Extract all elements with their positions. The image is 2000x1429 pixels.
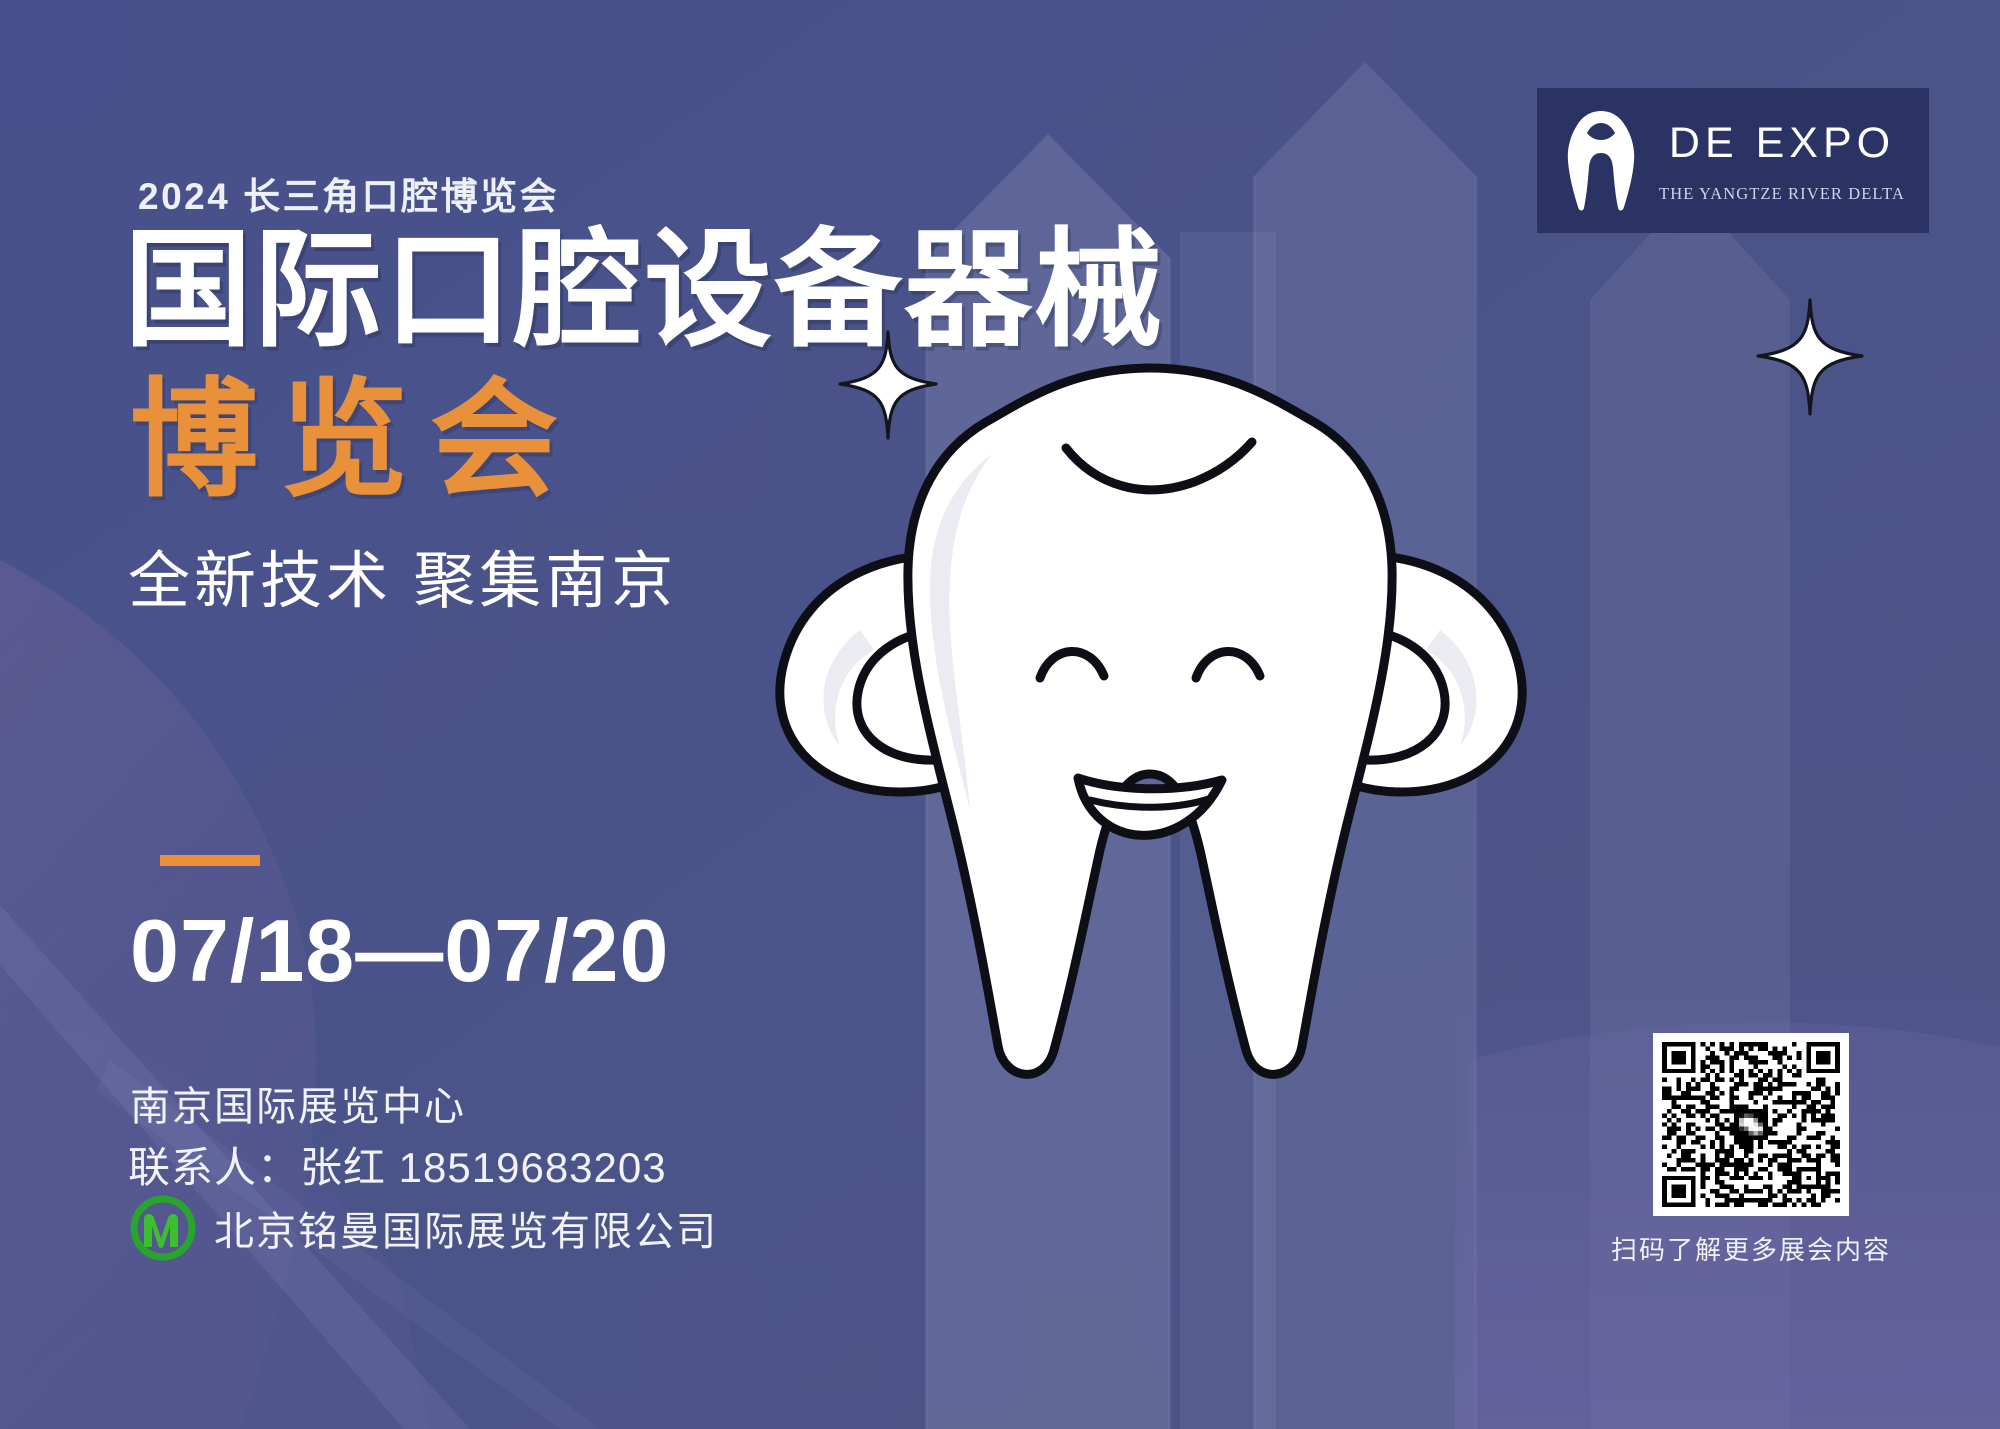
eyebrow-text: 2024 长三角口腔博览会 bbox=[138, 166, 559, 220]
qr-caption: 扫码了解更多展会内容 bbox=[1606, 1230, 1896, 1267]
qr-block: 扫码了解更多展会内容 bbox=[1653, 1033, 1849, 1267]
event-contact: 联系人：张红 18519683203 bbox=[128, 1134, 667, 1195]
qr-canvas bbox=[1662, 1042, 1840, 1207]
tagline-text: 全新技术 聚集南京 bbox=[128, 530, 677, 620]
event-venue: 南京国际展览中心 bbox=[130, 1074, 466, 1132]
headline-line-2: 博览会 bbox=[130, 372, 580, 510]
event-dates: 07/18—07/20 bbox=[130, 900, 669, 1002]
brand-logo-title: DE EXPO bbox=[1657, 121, 1907, 166]
mingman-circle-m-icon bbox=[128, 1193, 198, 1263]
wechat-qr-code[interactable] bbox=[1653, 1033, 1849, 1216]
brand-logo-box: DE EXPO THE YANGTZE RIVER DELTA bbox=[1537, 88, 1929, 233]
flexing-tooth-mascot bbox=[740, 330, 1560, 1130]
brand-logo-subtitle: THE YANGTZE RIVER DELTA bbox=[1657, 184, 1907, 204]
organizer-row: 北京铭曼国际展览有限公司 bbox=[128, 1193, 718, 1263]
orange-divider-rule bbox=[160, 855, 260, 866]
poster-canvas: DE EXPO THE YANGTZE RIVER DELTA 2024 长三角… bbox=[0, 0, 2000, 1429]
organizer-name: 北京铭曼国际展览有限公司 bbox=[214, 1199, 718, 1257]
four-point-sparkle-icon bbox=[1756, 298, 1864, 416]
molar-tooth-icon bbox=[1563, 109, 1639, 213]
